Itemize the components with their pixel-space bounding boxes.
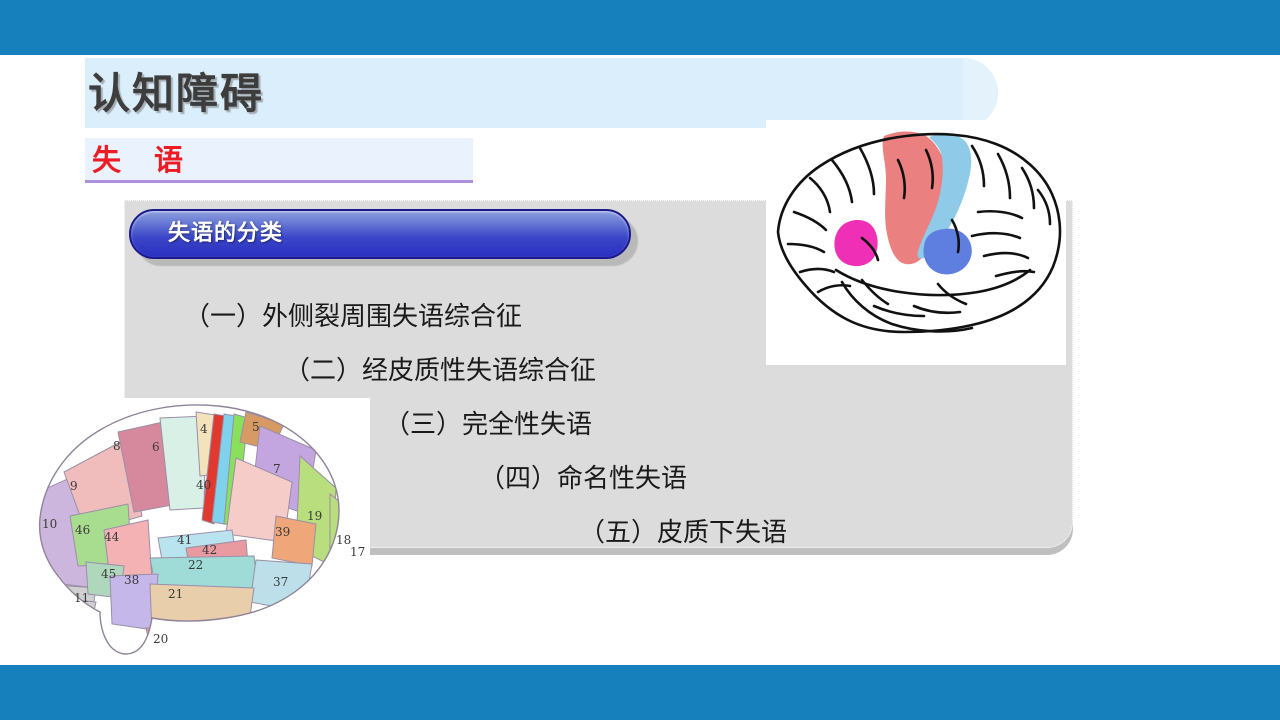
brodmann-number: 17 [350, 545, 365, 559]
bottom-brand-bar [0, 665, 1280, 720]
brodmann-number: 11 [74, 591, 89, 605]
brodmann-number: 45 [101, 567, 116, 581]
top-brand-bar [0, 0, 1280, 55]
brodmann-number: 19 [307, 509, 322, 523]
broca-area-region [834, 220, 877, 266]
brodmann-number: 21 [168, 587, 183, 601]
brodmann-number: 38 [124, 573, 139, 587]
brodmann-number: 8 [113, 439, 121, 453]
subtitle-text: 失 语 [92, 140, 185, 180]
title-band-tint [963, 58, 998, 128]
brodmann-number: 40 [196, 478, 211, 492]
brodmann-number: 44 [104, 530, 120, 544]
brodmann-number: 6 [152, 440, 160, 454]
brodmann-number: 22 [188, 558, 203, 572]
brodmann-number: 37 [273, 575, 288, 589]
wernicke-area-region [924, 229, 972, 275]
subtitle-underline [85, 180, 473, 183]
slide-canvas: 认知障碍 失 语 失语的分类 （一）外侧裂周围失语综合征 （二）经皮质性失语综合… [0, 0, 1280, 720]
brodmann-number: 39 [275, 525, 290, 539]
brodmann-number: 46 [75, 523, 90, 537]
brodmann-number: 42 [202, 543, 217, 557]
brodmann-number: 4 [200, 422, 208, 436]
brodmann-number: 18 [336, 533, 351, 547]
section-button-label: 失语的分类 [168, 209, 283, 259]
brodmann-number: 10 [42, 517, 57, 531]
brodmann-number: 5 [252, 420, 260, 434]
brodmann-number: 7 [273, 462, 281, 476]
brodmann-brain-figure: 8 6 4 5 9 7 10 46 44 40 19 39 18 17 41 4… [0, 398, 370, 660]
page-title: 认知障碍 [88, 63, 688, 125]
brodmann-number: 41 [177, 533, 192, 547]
brodmann-number: 9 [70, 479, 78, 493]
line-brain-figure [766, 120, 1066, 365]
temporal-lobe-lower [842, 282, 972, 331]
brodmann-number: 20 [153, 632, 168, 646]
